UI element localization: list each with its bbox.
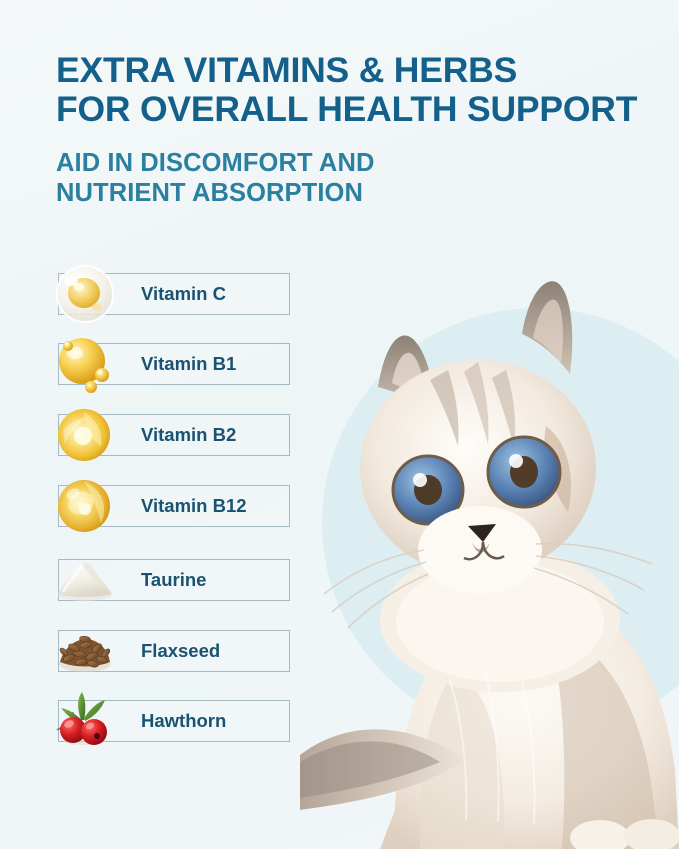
ingredient-label: Vitamin B1 — [141, 353, 236, 375]
ingredient-row-flaxseed: Flaxseed — [58, 630, 290, 672]
vitamin-b2-golden-sphere-icon — [51, 404, 119, 466]
vitamin-c-bubble-icon — [51, 263, 119, 325]
ingredient-label: Vitamin B2 — [141, 424, 236, 446]
ingredient-label: Hawthorn — [141, 710, 226, 732]
ingredient-row-taurine: Taurine — [58, 559, 290, 601]
ingredient-row-vitamin-b1: Vitamin B1 — [58, 343, 290, 385]
ingredient-label: Vitamin C — [141, 283, 226, 305]
ingredient-label: Flaxseed — [141, 640, 220, 662]
ingredient-row-vitamin-c: Vitamin C — [58, 273, 290, 315]
hawthorn-red-berries-icon — [51, 690, 119, 752]
ingredient-row-hawthorn: Hawthorn — [58, 700, 290, 742]
ingredient-row-vitamin-b2: Vitamin B2 — [58, 414, 290, 456]
product-feature-graphic: EXTRA VITAMINS & HERBS FOR OVERALL HEALT… — [0, 0, 679, 849]
ingredient-row-vitamin-b12: Vitamin B12 — [58, 485, 290, 527]
taurine-white-powder-icon — [51, 549, 119, 611]
ingredient-label: Vitamin B12 — [141, 495, 247, 517]
ingredient-label: Taurine — [141, 569, 206, 591]
vitamin-b12-golden-capsule-icon — [51, 475, 119, 537]
vitamin-b1-golden-droplet-icon — [51, 333, 119, 395]
flaxseed-brown-seeds-icon — [51, 620, 119, 682]
ingredient-list: Vitamin C — [0, 0, 679, 849]
